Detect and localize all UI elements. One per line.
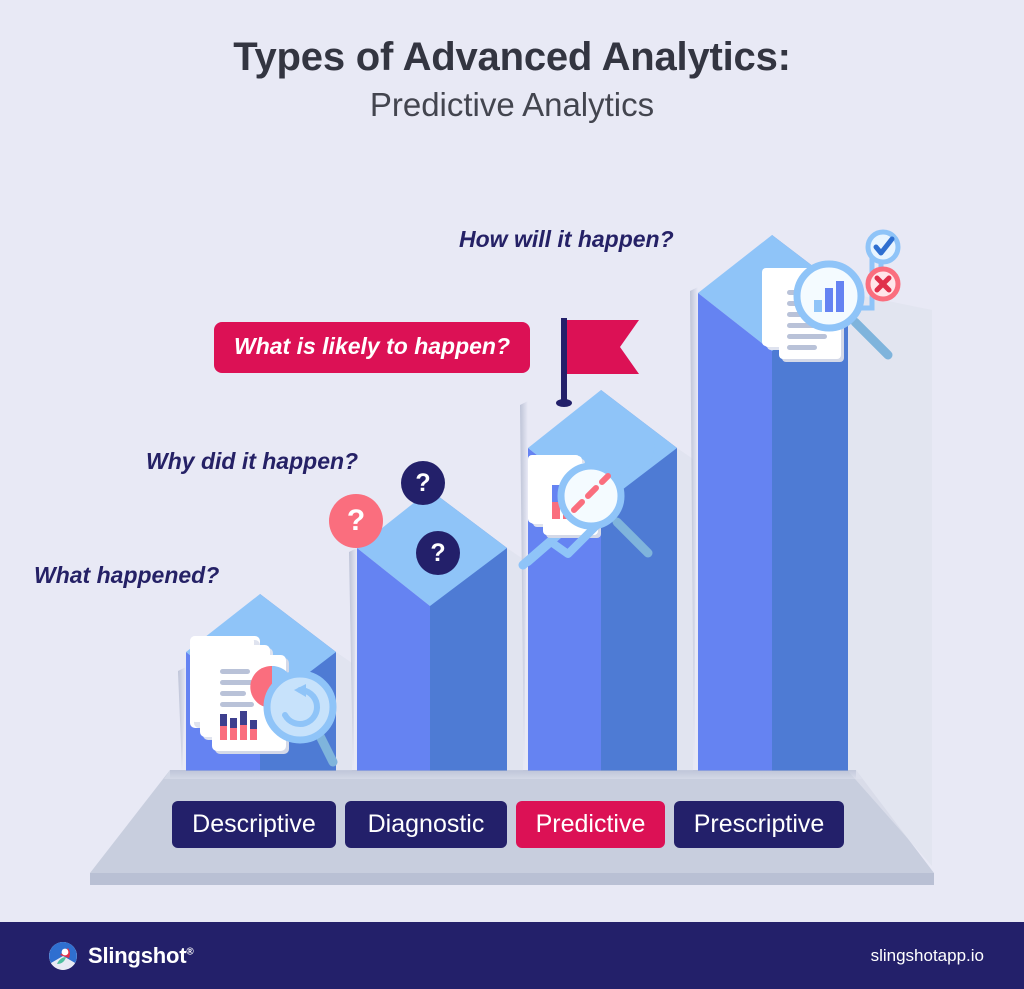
bar-predictive[interactable] (520, 390, 693, 771)
question-mark-bubble-navy-top: ? (401, 461, 445, 505)
brand-name: Slingshot® (88, 943, 194, 969)
page-title: Types of Advanced Analytics: (0, 34, 1024, 80)
annotation-how-will-it-happen: How will it happen? (459, 226, 674, 253)
website-url: slingshotapp.io (871, 922, 984, 989)
annotation-why-did-it-happen: Why did it happen? (146, 448, 358, 475)
annotation-what-is-likely-to-happen: What is likely to happen? (214, 322, 530, 373)
page-subtitle: Predictive Analytics (0, 86, 1024, 124)
slingshot-logo-icon (48, 941, 78, 971)
category-label-predictive[interactable]: Predictive (516, 801, 665, 848)
title-block: Types of Advanced Analytics: Predictive … (0, 34, 1024, 124)
infographic-canvas: Types of Advanced Analytics: Predictive … (0, 0, 1024, 989)
question-mark-bubble-navy-bottom: ? (416, 531, 460, 575)
footer-bar: Slingshot® slingshotapp.io (0, 922, 1024, 989)
category-label-prescriptive[interactable]: Prescriptive (674, 801, 844, 848)
category-label-row: Descriptive Diagnostic Predictive Prescr… (0, 801, 1024, 849)
category-label-diagnostic[interactable]: Diagnostic (345, 801, 507, 848)
category-label-descriptive[interactable]: Descriptive (172, 801, 336, 848)
question-mark-bubble-pink: ? (329, 494, 383, 548)
annotation-what-happened: What happened? (34, 562, 219, 589)
brand-block[interactable]: Slingshot® (48, 922, 194, 989)
